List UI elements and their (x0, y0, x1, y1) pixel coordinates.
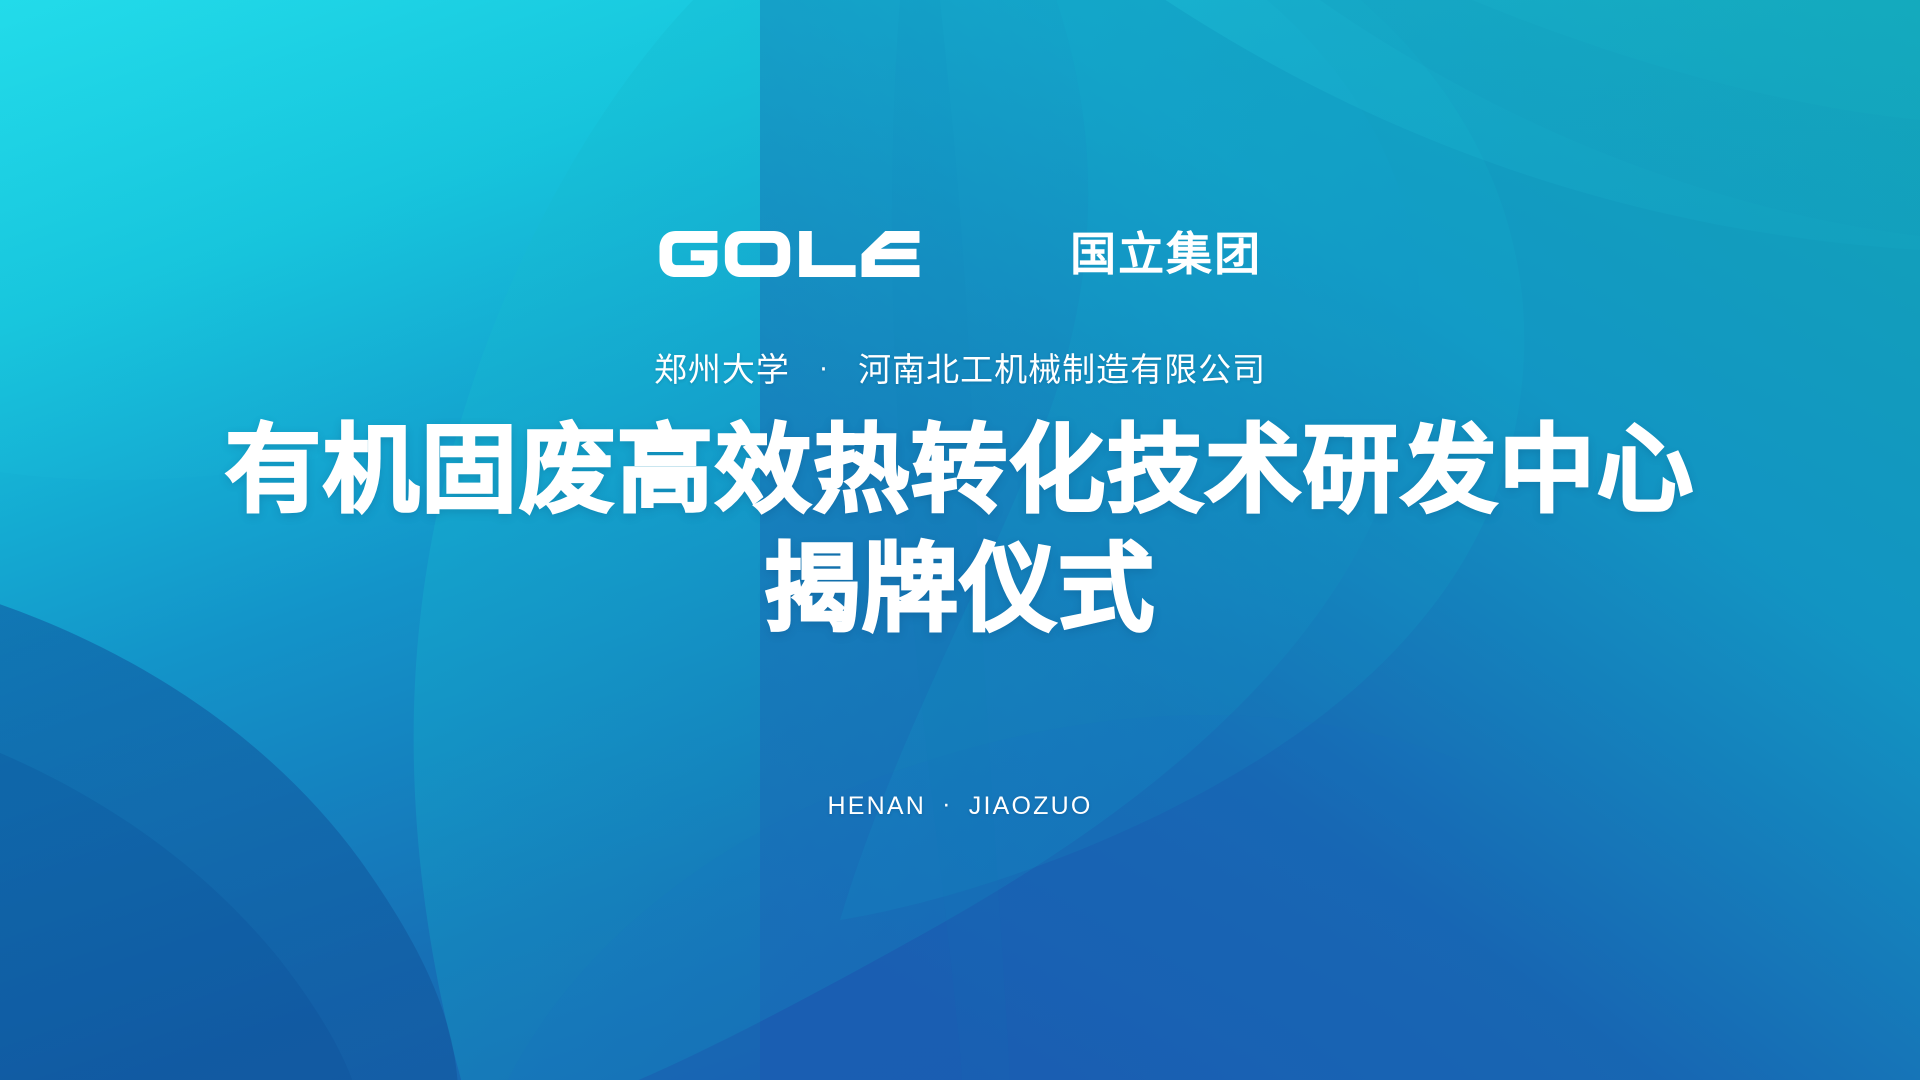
location-city: JIAOZUO (969, 792, 1093, 820)
gole-wordmark-icon (658, 228, 1044, 280)
organizers-line: 郑州大学 · 河南北工机械制造有限公司 (654, 350, 1266, 390)
event-title-line-1: 有机固废高效热转化技术研发中心 (225, 412, 1695, 529)
event-title: 有机固废高效热转化技术研发中心 揭牌仪式 (225, 412, 1695, 648)
location-separator: · (935, 790, 960, 819)
logo-chinese-name: 国立集团 (1070, 228, 1262, 280)
location-label: HENAN · JIAOZUO (827, 790, 1092, 821)
event-banner-slide: 国立集团 郑州大学 · 河南北工机械制造有限公司 有机固废高效热转化技术研发中心… (0, 0, 1920, 1080)
event-title-line-2: 揭牌仪式 (225, 531, 1695, 648)
organizer-separator: · (801, 355, 846, 386)
location-province: HENAN (827, 792, 926, 820)
gole-group-logo: 国立集团 (658, 228, 1262, 280)
organizer-company: 河南北工机械制造有限公司 (858, 350, 1266, 389)
organizer-university: 郑州大学 (654, 350, 790, 389)
